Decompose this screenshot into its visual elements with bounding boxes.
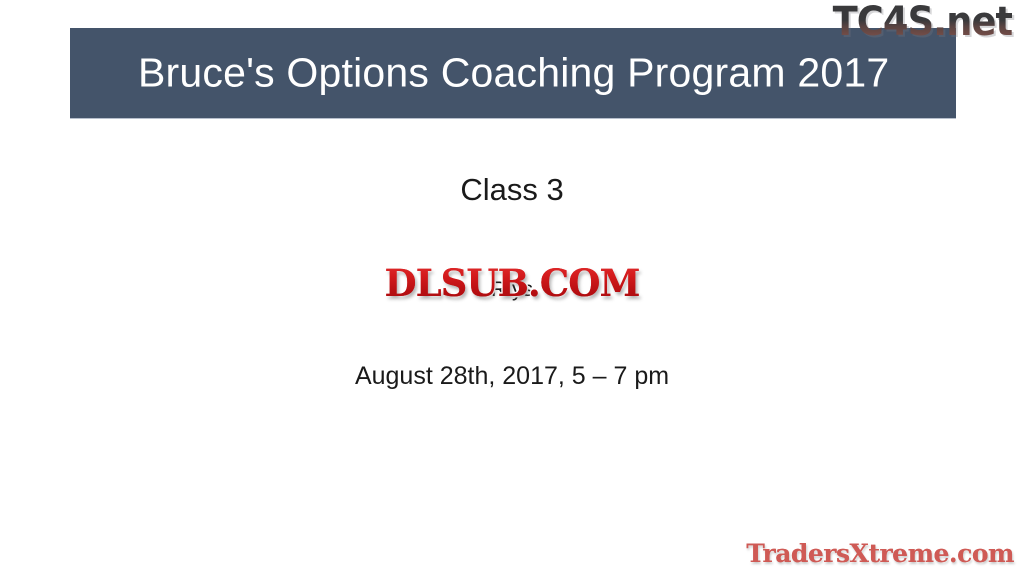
date-time-line: August 28th, 2017, 5 – 7 pm <box>0 362 1024 391</box>
page-title: Bruce's Options Coaching Program 2017 <box>138 50 889 97</box>
tc4s-watermark: TC4S.net <box>832 2 1012 42</box>
title-banner: Bruce's Options Coaching Program 2017 <box>70 28 956 118</box>
presentation-slide: Bruce's Options Coaching Program 2017 Cl… <box>0 0 1024 576</box>
tradersxtreme-watermark: TradersXtreme.com <box>746 541 1014 566</box>
class-label: Class 3 <box>0 172 1024 208</box>
dlsub-watermark: DLSUB.COM <box>385 265 640 302</box>
